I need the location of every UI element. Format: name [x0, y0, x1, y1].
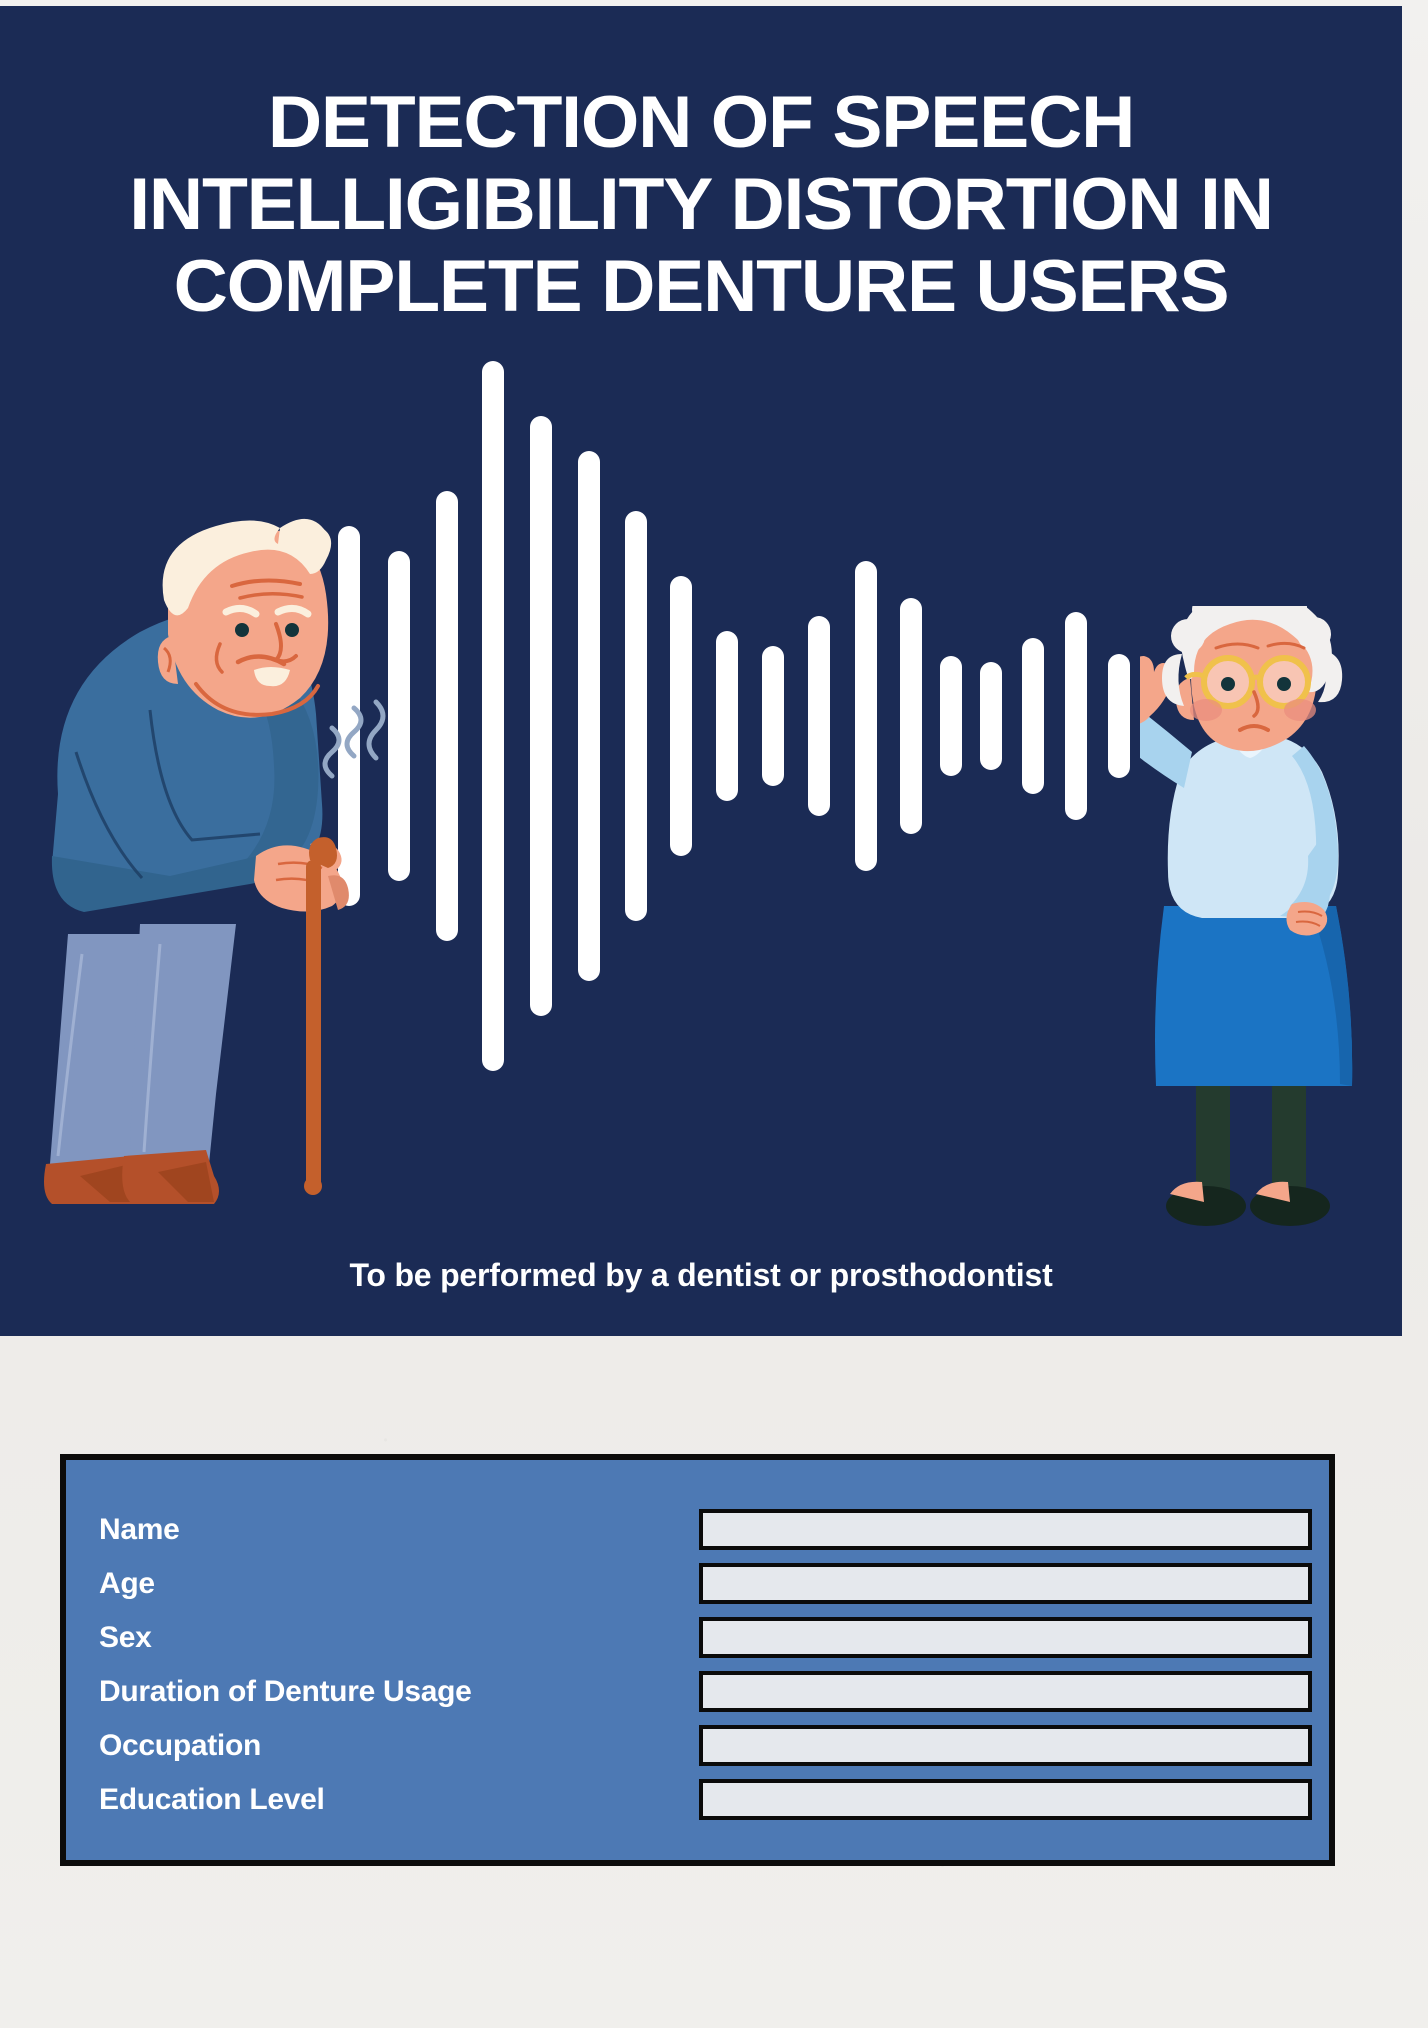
- form-input-duration-of-denture-usage[interactable]: [699, 1671, 1312, 1712]
- form-row: Sex: [66, 1610, 1329, 1665]
- form-label-sex: Sex: [99, 1621, 151, 1655]
- form-label-occupation: Occupation: [99, 1729, 261, 1763]
- waveform-bar-10: [762, 646, 784, 786]
- waveform-bar-7: [625, 511, 647, 921]
- form-input-name[interactable]: [699, 1509, 1312, 1550]
- form-label-duration-of-denture-usage: Duration of Denture Usage: [99, 1675, 472, 1709]
- form-input-age[interactable]: [699, 1563, 1312, 1604]
- waveform-bar-18: [1108, 654, 1130, 778]
- form-row: Occupation: [66, 1718, 1329, 1773]
- waveform-bar-9: [716, 631, 738, 801]
- waveform-bar-15: [980, 662, 1002, 770]
- waveform-bar-12: [855, 561, 877, 871]
- waveform-bar-17: [1065, 612, 1087, 820]
- waveform-bar-16: [1022, 638, 1044, 794]
- form-row: Education Level: [66, 1772, 1329, 1827]
- waveform-bar-8: [670, 576, 692, 856]
- hero-banner: DETECTION OF SPEECH INTELLIGIBILITY DIST…: [0, 6, 1402, 1336]
- form-label-age: Age: [99, 1567, 155, 1601]
- elderly-woman-illustration: [1140, 606, 1402, 1256]
- waveform-bar-13: [900, 598, 922, 834]
- waveform-bar-5: [530, 416, 552, 1016]
- form-label-name: Name: [99, 1513, 180, 1547]
- waveform-bar-11: [808, 616, 830, 816]
- waveform-bar-4: [482, 361, 504, 1071]
- elderly-man-illustration: [10, 504, 370, 1264]
- form-input-education-level[interactable]: [699, 1779, 1312, 1820]
- waveform-bar-3: [436, 491, 458, 941]
- page-title: DETECTION OF SPEECH INTELLIGIBILITY DIST…: [0, 82, 1402, 327]
- form-row: Age: [66, 1556, 1329, 1611]
- form-row: Duration of Denture Usage: [66, 1664, 1329, 1719]
- form-label-education-level: Education Level: [99, 1783, 325, 1817]
- form-input-occupation[interactable]: [699, 1725, 1312, 1766]
- form-row: Name: [66, 1502, 1329, 1557]
- poster-root: DETECTION OF SPEECH INTELLIGIBILITY DIST…: [0, 0, 1428, 2028]
- waveform-bar-6: [578, 451, 600, 981]
- subtitle-text: To be performed by a dentist or prosthod…: [0, 1257, 1402, 1294]
- waveform-bar-14: [940, 656, 962, 776]
- patient-details-form: Name Age Sex Duration of Denture Usage O…: [60, 1454, 1335, 1866]
- form-input-sex[interactable]: [699, 1617, 1312, 1658]
